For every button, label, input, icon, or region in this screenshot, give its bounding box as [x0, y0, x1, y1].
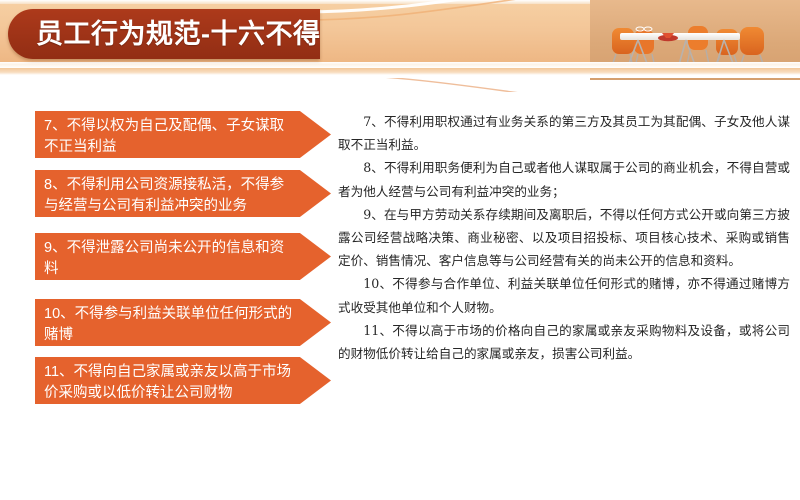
rule-paragraph-11: 11、不得以高于市场的价格向自己的家属或亲友采购物料及设备，或将公司的财物低价转… [338, 319, 790, 365]
rule-detail-text: 7、不得利用职权通过有业务关系的第三方及其员工为其配偶、子女及他人谋取不正当利益… [338, 110, 790, 365]
rule-chevron-list: 7、不得以权为自己及配偶、子女谋取不正当利益 8、不得利用公司资源接私活，不得参… [0, 0, 340, 500]
rule-paragraph-9: 9、在与甲方劳动关系存续期间及离职后，不得以任何方式公开或向第三方披露公司经营战… [338, 203, 790, 273]
rule-chevron-10[interactable]: 10、不得参与利益关联单位任何形式的赌博 [35, 299, 331, 346]
rule-chevron-8[interactable]: 8、不得利用公司资源接私活，不得参与经营与公司有利益冲突的业务 [35, 170, 331, 217]
rule-paragraph-10: 10、不得参与合作单位、利益关联单位任何形式的赌博，亦不得通过赌博方式收受其他单… [338, 272, 790, 318]
rule-paragraph-8: 8、不得利用职务便利为自己或者他人谋取属于公司的商业机会，不得自营或者为他人经营… [338, 156, 790, 202]
rule-paragraph-7: 7、不得利用职权通过有业务关系的第三方及其员工为其配偶、子女及他人谋取不正当利益… [338, 110, 790, 156]
rule-chevron-11[interactable]: 11、不得向自己家属或亲友以高于市场价采购或以低价转让公司财物 [35, 357, 331, 404]
rule-chevron-7[interactable]: 7、不得以权为自己及配偶、子女谋取不正当利益 [35, 111, 331, 158]
rule-chevron-9[interactable]: 9、不得泄露公司尚未公开的信息和资料 [35, 233, 331, 280]
